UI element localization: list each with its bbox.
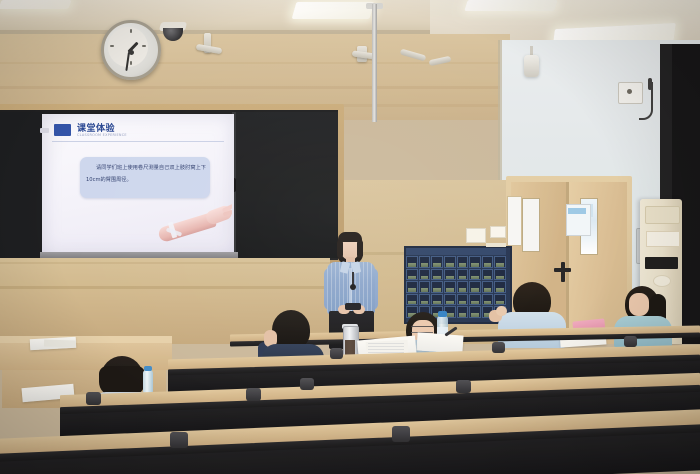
chair-bracket — [170, 432, 188, 448]
phone-pocket — [431, 281, 443, 293]
phone-pocket — [482, 281, 494, 293]
slide-divider — [52, 141, 224, 142]
ac-control-panel[interactable] — [653, 275, 671, 287]
blackboard-right-panel — [236, 112, 338, 258]
water-bottle — [143, 370, 153, 394]
tumbler-contents — [345, 340, 355, 355]
wall-notice — [466, 228, 486, 243]
wall-band — [0, 262, 330, 264]
door-handle[interactable] — [561, 262, 565, 282]
phone-pocket — [406, 294, 418, 306]
ac-top-panel — [645, 206, 680, 224]
phone-pocket — [469, 256, 481, 268]
ac-label — [646, 231, 680, 247]
slide-subtitle: CLASSROOM EXPERIENCE — [77, 133, 127, 137]
phone-pocket — [494, 269, 506, 281]
phone-pocket — [469, 269, 481, 281]
clock-center-pin — [129, 50, 134, 55]
teacher-hair-side — [337, 240, 343, 258]
door-handle-bar[interactable] — [554, 268, 571, 272]
phone-pocket — [419, 294, 431, 306]
chair-bracket — [86, 392, 101, 405]
presenter-clicker — [345, 303, 361, 310]
phone-pocket — [457, 294, 469, 306]
wall-notice-strip — [486, 243, 506, 247]
student-hand — [496, 306, 507, 316]
chair-bracket — [392, 426, 410, 442]
phone-pocket — [444, 294, 456, 306]
door-notice-sheet — [507, 196, 522, 246]
chair-bracket — [300, 378, 314, 390]
door-window-left — [522, 198, 540, 252]
phone-pocket — [406, 256, 418, 268]
wall-band — [0, 86, 510, 89]
chair-bracket — [246, 388, 261, 401]
lectern-papers — [44, 339, 76, 347]
phone-pocket — [457, 306, 469, 318]
ceiling-light-panel — [292, 2, 375, 19]
phone-pocket — [494, 281, 506, 293]
support-pole — [372, 4, 377, 122]
phone-pocket — [419, 256, 431, 268]
phone-pocket — [444, 256, 456, 268]
projector-screen: 课堂体验 CLASSROOM EXPERIENCE 请同学们班上使用卷尺测量自己… — [42, 114, 234, 254]
phone-pocket — [494, 256, 506, 268]
rack-header — [406, 248, 506, 255]
classroom-photo: 课堂体验 CLASSROOM EXPERIENCE 请同学们班上使用卷尺测量自己… — [0, 0, 700, 474]
chair-bracket — [492, 342, 505, 353]
phone-pocket — [406, 269, 418, 281]
chair-bracket — [330, 348, 343, 359]
clip-microphone-icon — [350, 284, 356, 290]
chair-bracket — [456, 380, 471, 393]
phone-pocket — [444, 269, 456, 281]
phone-pocket — [419, 281, 431, 293]
phone-pocket — [482, 256, 494, 268]
phone-pocket — [457, 281, 469, 293]
electrical-box-dot — [627, 89, 632, 94]
phone-pocket — [469, 306, 481, 318]
student-face — [629, 293, 649, 316]
lectern-top — [0, 336, 172, 343]
ceiling-light-panel — [0, 0, 72, 9]
screen-logo-badge — [40, 128, 49, 133]
wall-clock — [101, 20, 161, 80]
bottle-cap — [144, 366, 152, 371]
phone-pocket — [482, 269, 494, 281]
phone-pocket — [406, 281, 418, 293]
blackboard-left-panel — [0, 112, 44, 258]
phone-pocket — [431, 269, 443, 281]
phone-pocket — [431, 294, 443, 306]
phone-pocket — [457, 256, 469, 268]
ac-vent — [645, 257, 678, 269]
phone-pocket — [482, 294, 494, 306]
wall-band — [0, 286, 330, 289]
rack-pockets — [406, 256, 506, 318]
phone-pocket — [444, 281, 456, 293]
phone-pocket — [469, 281, 481, 293]
wall-speaker-icon — [524, 55, 539, 77]
phone-pocket — [419, 269, 431, 281]
teacher-hair-side — [357, 240, 363, 258]
phone-pocket — [457, 269, 469, 281]
ceiling-light-panel — [464, 0, 558, 11]
cable-end — [648, 78, 652, 90]
wall-notice — [490, 226, 506, 238]
phone-pocket — [469, 294, 481, 306]
bottle-cap — [438, 311, 447, 317]
slide-body-text: 请同学们班上使用卷尺测量自己双上肢肘窝上下10cm的臂围周径。 — [86, 162, 206, 186]
forearm-measurement-image — [154, 200, 232, 244]
phone-pocket — [494, 294, 506, 306]
notice-header-strip — [568, 208, 586, 214]
slide-logo-icon — [54, 124, 71, 136]
phone-pocket — [431, 256, 443, 268]
chair-bracket — [624, 336, 637, 347]
